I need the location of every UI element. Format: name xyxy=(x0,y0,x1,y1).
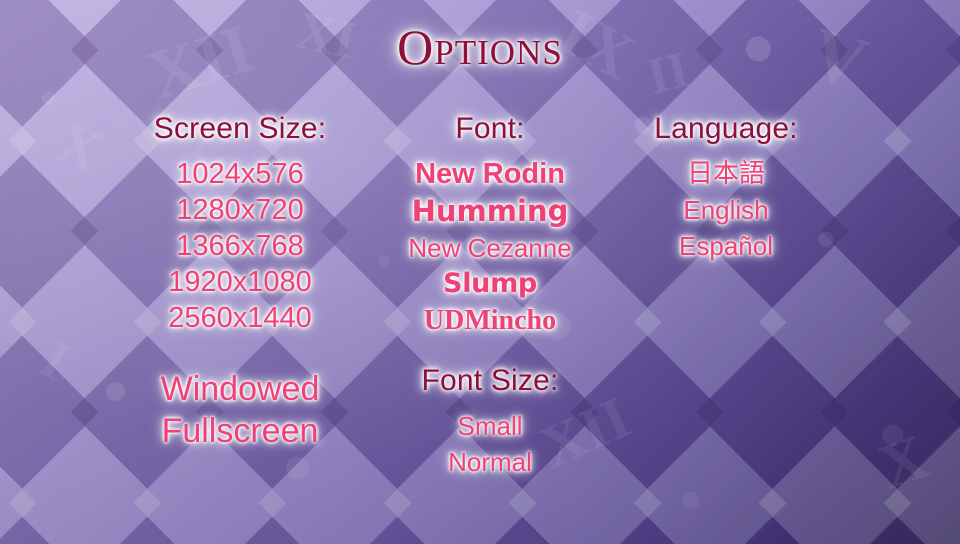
page-title: Options xyxy=(0,18,960,76)
font-size-section: Font Size: Small Normal xyxy=(380,364,600,398)
options-ui-layer: Options Screen Size: 1024x576 1280x720 1… xyxy=(0,0,960,544)
display-mode-option-fullscreen[interactable]: Fullscreen xyxy=(100,410,380,452)
font-option-list: New Rodin Humming New Cezanne Slump UDMi… xyxy=(380,156,600,339)
language-option-english[interactable]: English xyxy=(608,192,844,228)
screen-size-section: Screen Size: 1024x576 1280x720 1366x768 … xyxy=(100,112,380,146)
language-option-spanish[interactable]: Español xyxy=(608,228,844,264)
screen-size-option-1920x1080[interactable]: 1920x1080 xyxy=(100,264,380,300)
font-header: Font: xyxy=(380,112,600,146)
options-screen: XII X I XI IX II V XII I X Options Scree… xyxy=(0,0,960,544)
font-section: Font: New Rodin Humming New Cezanne Slum… xyxy=(380,112,600,146)
font-option-new-rodin[interactable]: New Rodin xyxy=(380,156,600,193)
font-size-header: Font Size: xyxy=(380,364,600,398)
language-header: Language: xyxy=(608,112,844,146)
screen-size-header: Screen Size: xyxy=(100,112,380,146)
language-option-list: 日本語 English Español xyxy=(608,156,844,264)
language-option-japanese[interactable]: 日本語 xyxy=(608,156,844,192)
language-section: Language: 日本語 English Español xyxy=(608,112,844,146)
screen-size-option-1366x768[interactable]: 1366x768 xyxy=(100,228,380,264)
font-size-option-normal[interactable]: Normal xyxy=(380,444,600,480)
font-option-humming[interactable]: Humming xyxy=(380,193,600,230)
font-size-option-small[interactable]: Small xyxy=(380,408,600,444)
font-option-udmincho[interactable]: UDMincho xyxy=(380,302,600,339)
screen-size-option-1024x576[interactable]: 1024x576 xyxy=(100,156,380,192)
font-option-new-cezanne[interactable]: New Cezanne xyxy=(380,230,600,266)
screen-size-option-2560x1440[interactable]: 2560x1440 xyxy=(100,300,380,336)
font-option-slump[interactable]: Slump xyxy=(380,266,600,302)
display-mode-option-list: Windowed Fullscreen xyxy=(100,368,380,452)
font-size-option-list: Small Normal xyxy=(380,408,600,480)
screen-size-option-1280x720[interactable]: 1280x720 xyxy=(100,192,380,228)
screen-size-option-list: 1024x576 1280x720 1366x768 1920x1080 256… xyxy=(100,156,380,336)
display-mode-option-windowed[interactable]: Windowed xyxy=(100,368,380,410)
